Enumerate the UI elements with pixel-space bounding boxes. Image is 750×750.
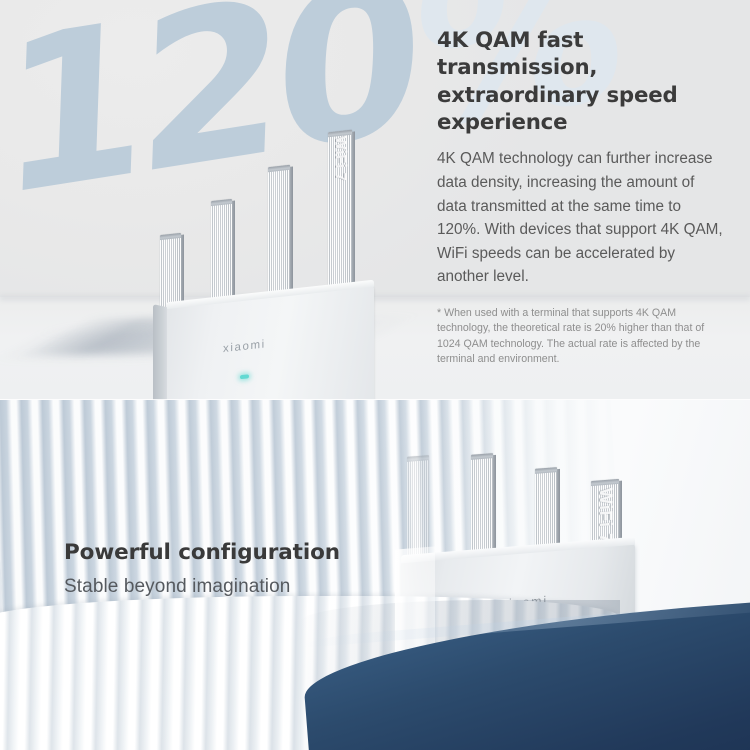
top-section: 120% WiFi 7 x [0,0,750,400]
bottom-copy-block: Powerful configuration Stable beyond ima… [64,540,404,598]
router-body-top-face [401,537,635,563]
antenna-cap [591,479,619,486]
antenna-wifi7-label: WiFi 7 [332,135,348,182]
top-copy-block: 4K QAM fast transmission, extraordinary … [437,27,737,368]
router-body-top: xiaomi [166,285,374,400]
bottom-subheading: Stable beyond imagination [64,576,404,598]
antenna-cap [407,455,429,462]
top-body-paragraph: 4K QAM technology can further increase d… [437,147,725,288]
bottom-section: WiFi 7 xiaomi Powerful configuration Sta… [0,400,750,750]
antenna-cap [211,199,232,206]
antenna-cap [535,467,557,474]
router-product-top: WiFi 7 xiaomi [150,88,375,353]
antenna-cap [268,165,290,172]
router-body-left-face [153,304,167,400]
product-marketing-image: 120% WiFi 7 x [0,0,750,750]
led-indicator-top [240,374,249,379]
xiaomi-logo-top: xiaomi [223,338,266,355]
antenna-cap [471,453,493,460]
antenna-cap [160,233,181,240]
top-footnote: * When used with a terminal that support… [437,306,721,368]
antenna-wifi7-label: WiFi 7 [595,487,615,544]
top-heading: 4K QAM fast transmission, extraordinary … [437,27,737,136]
bottom-heading: Powerful configuration [64,540,404,565]
